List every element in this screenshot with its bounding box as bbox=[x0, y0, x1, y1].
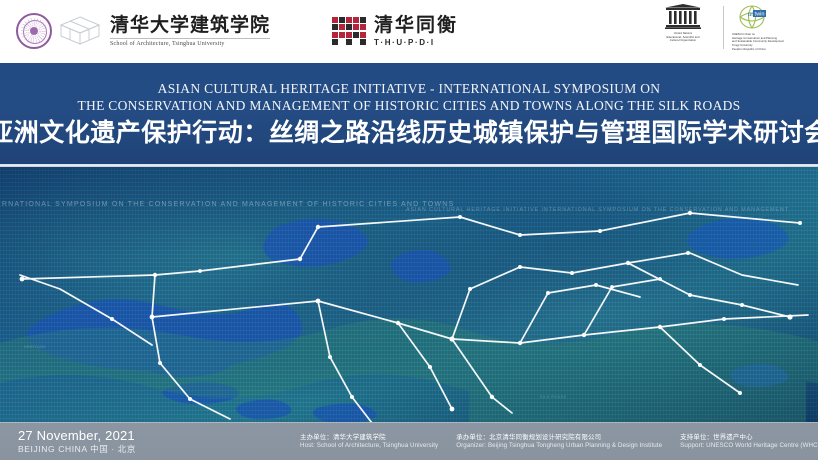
thupdi-logo: 清华同衡 T·H·U·P·D·I bbox=[332, 16, 458, 47]
map-ghost-text-2: ASIAN CULTURAL HERITAGE INITIATIVE INTER… bbox=[406, 207, 789, 213]
tsinghua-wordmark-en: School of Architecture, Tsinghua Univers… bbox=[110, 38, 270, 47]
tsinghua-logo: 清华大学建筑学院 School of Architecture, Tsinghu… bbox=[16, 13, 270, 49]
logo-left-group: 清华大学建筑学院 School of Architecture, Tsinghu… bbox=[0, 13, 458, 49]
map-ghost-text-3: HERITAGE bbox=[24, 345, 46, 349]
logo-divider bbox=[723, 6, 724, 49]
credit-organizer-cn: 承办单位：北京清华同衡规划设计研究院有限公司 bbox=[456, 434, 662, 440]
title-english-line-1: ASIAN CULTURAL HERITAGE INITIATIVE - INT… bbox=[158, 81, 661, 97]
credit-organizer: 承办单位：北京清华同衡规划设计研究院有限公司 Organizer: Beijin… bbox=[456, 434, 662, 450]
logo-bar: 清华大学建筑学院 School of Architecture, Tsinghu… bbox=[0, 0, 818, 62]
credit-support: 支持单位：世界遗产中心 Support: UNESCO World Herita… bbox=[680, 434, 818, 450]
title-chinese: 亚洲文化遗产保护行动：丝绸之路沿线历史城镇保护与管理国际学术研讨会 bbox=[0, 118, 818, 148]
svg-text:twin: twin bbox=[755, 12, 765, 18]
seal-spokes-icon bbox=[21, 18, 47, 44]
symposium-poster: 清华大学建筑学院 School of Architecture, Tsinghu… bbox=[0, 0, 818, 460]
silk-roads-map: ERNATIONAL SYMPOSIUM ON THE CONSERVATION… bbox=[0, 167, 818, 423]
unesco-logo: United Nations Educational, Scientific a… bbox=[651, 4, 715, 43]
thupdi-wordmark: 清华同衡 T·H·U·P·D·I bbox=[374, 16, 458, 47]
credit-support-cn: 支持单位：世界遗产中心 bbox=[680, 434, 818, 440]
thupdi-wordmark-en: T·H·U·P·D·I bbox=[374, 39, 458, 47]
tsinghua-university-seal-icon bbox=[16, 13, 52, 49]
unesco-chair-logo: uni twin UNESCO Chair on Heritage Conser… bbox=[732, 4, 808, 51]
title-band: ASIAN CULTURAL HERITAGE INITIATIVE - INT… bbox=[0, 63, 818, 165]
credit-host-en: Host: School of Architecture, Tsinghua U… bbox=[300, 443, 438, 449]
unesco-logo-group: United Nations Educational, Scientific a… bbox=[651, 4, 808, 51]
architecture-cube-icon bbox=[58, 14, 102, 48]
event-date-block: 27 November, 2021 BEIJING CHINA 中国 · 北京 bbox=[0, 429, 136, 454]
footer-bar: 27 November, 2021 BEIJING CHINA 中国 · 北京 … bbox=[0, 423, 818, 460]
tsinghua-wordmark-cn: 清华大学建筑学院 bbox=[110, 16, 270, 35]
credit-support-en: Support: UNESCO World Heritage Centre (W… bbox=[680, 443, 818, 449]
event-place: BEIJING CHINA 中国 · 北京 bbox=[18, 445, 136, 454]
unesco-temple-icon bbox=[663, 4, 703, 30]
thupdi-wordmark-cn: 清华同衡 bbox=[374, 16, 458, 35]
event-date: 27 November, 2021 bbox=[18, 429, 136, 442]
credit-host-cn: 主办单位：清华大学建筑学院 bbox=[300, 434, 438, 440]
tsinghua-wordmark: 清华大学建筑学院 School of Architecture, Tsinghu… bbox=[110, 16, 270, 47]
unesco-caption: United Nations Educational, Scientific a… bbox=[652, 32, 714, 43]
footer-credits: 主办单位：清华大学建筑学院 Host: School of Architectu… bbox=[300, 423, 818, 460]
map-ghost-text-1: ERNATIONAL SYMPOSIUM ON THE CONSERVATION… bbox=[0, 201, 454, 208]
credit-host: 主办单位：清华大学建筑学院 Host: School of Architectu… bbox=[300, 434, 438, 450]
map-ghost-text-4: SILK ROADS bbox=[540, 395, 567, 399]
title-english-line-2: THE CONSERVATION AND MANAGEMENT OF HISTO… bbox=[77, 97, 740, 115]
credit-organizer-en: Organizer: Beijing Tsinghua Tongheng Urb… bbox=[456, 443, 662, 449]
thupdi-grid-icon bbox=[332, 17, 366, 45]
unesco-chair-caption: UNESCO Chair on Heritage Conservation an… bbox=[732, 33, 808, 51]
unesco-chair-globe-icon: uni twin bbox=[732, 4, 772, 30]
